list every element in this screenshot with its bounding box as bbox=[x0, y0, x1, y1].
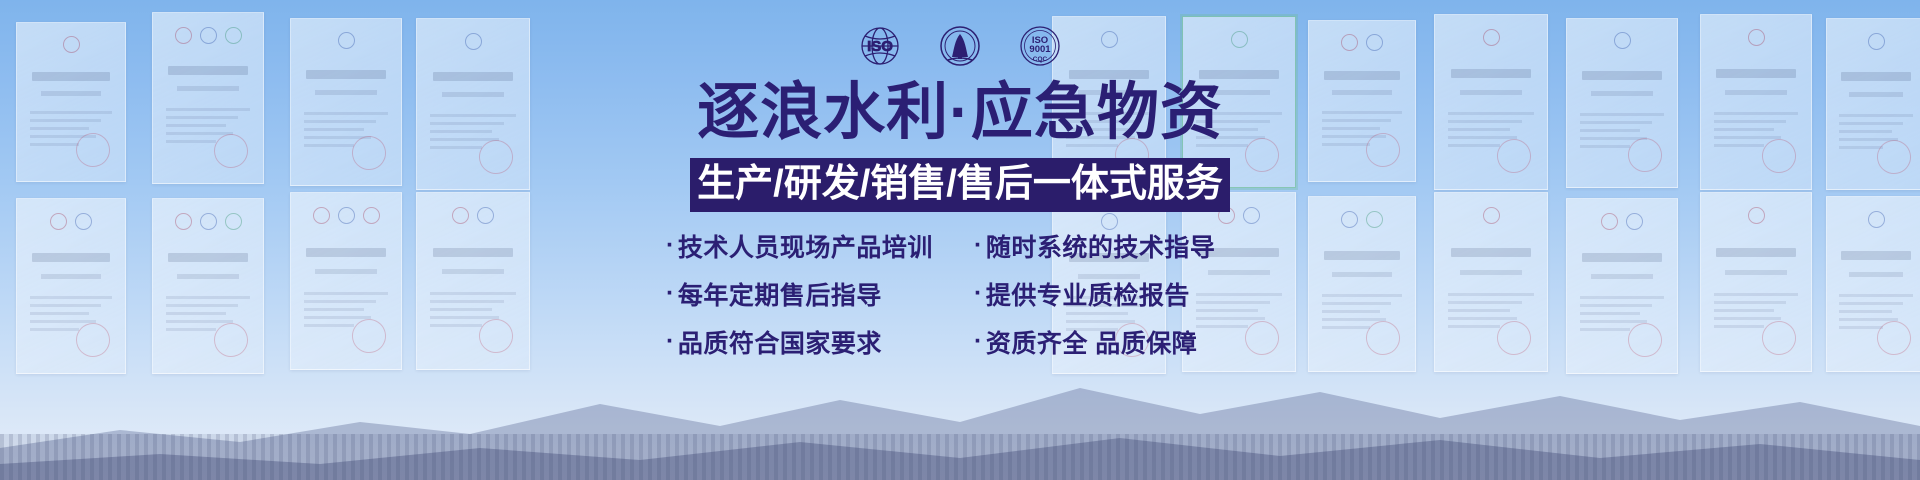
page-title: 逐浪水利·应急物资 bbox=[660, 80, 1260, 146]
banner-content: ISO ISO 9001 CQC bbox=[660, 0, 1260, 480]
promo-banner: ISO ISO 9001 CQC bbox=[0, 0, 1920, 480]
svg-text:ISO: ISO bbox=[867, 38, 893, 55]
certificate-thumbnail bbox=[1308, 196, 1416, 372]
svg-text:CQC: CQC bbox=[1033, 56, 1048, 63]
svg-text:9001: 9001 bbox=[1029, 44, 1051, 55]
bullet-icon: · bbox=[974, 231, 983, 260]
bullet-icon: · bbox=[666, 231, 675, 260]
list-item-label: 技术人员现场产品培训 bbox=[678, 228, 933, 264]
certificate-thumbnail bbox=[1308, 20, 1416, 182]
bullet-icon: · bbox=[974, 279, 983, 308]
certificate-thumbnail bbox=[1434, 192, 1548, 372]
list-item-label: 随时系统的技术指导 bbox=[986, 228, 1216, 264]
certificate-thumbnail bbox=[1700, 192, 1812, 372]
bullet-icon: · bbox=[666, 327, 675, 356]
list-item: · 技术人员现场产品培训 bbox=[666, 228, 956, 264]
list-item-label: 每年定期售后指导 bbox=[678, 276, 882, 312]
certificate-thumbnail bbox=[1700, 14, 1812, 190]
certificate-thumbnail bbox=[1434, 14, 1548, 190]
bullet-icon: · bbox=[666, 279, 675, 308]
certificate-thumbnail bbox=[1566, 18, 1678, 188]
list-item-label: 提供专业质检报告 bbox=[986, 276, 1190, 312]
list-item: · 每年定期售后指导 bbox=[666, 276, 956, 312]
certificate-thumbnail bbox=[290, 18, 402, 186]
list-item: · 品质符合国家要求 bbox=[666, 324, 956, 360]
certificate-thumbnail bbox=[16, 198, 126, 374]
bullet-icon: · bbox=[974, 327, 983, 356]
certificate-thumbnail bbox=[416, 18, 530, 190]
certificate-thumbnail bbox=[1566, 198, 1678, 374]
list-item-label: 品质符合国家要求 bbox=[678, 324, 882, 360]
certificate-thumbnail bbox=[1826, 18, 1920, 190]
list-item: · 资质齐全 品质保障 bbox=[964, 324, 1254, 360]
certificate-thumbnail bbox=[290, 192, 402, 370]
iso-badge: ISO bbox=[855, 21, 905, 71]
certification-badges: ISO ISO 9001 CQC bbox=[660, 0, 1260, 66]
feature-list: · 技术人员现场产品培训 · 随时系统的技术指导 · 每年定期售后指导 · 提供… bbox=[660, 228, 1260, 360]
iso-9001-cqc-badge: ISO 9001 CQC bbox=[1015, 21, 1065, 71]
list-item-label: 资质齐全 品质保障 bbox=[986, 324, 1197, 360]
certificate-thumbnail bbox=[152, 12, 264, 184]
iso-14000-badge bbox=[935, 21, 985, 71]
certificate-thumbnail bbox=[16, 22, 126, 182]
certificate-thumbnail bbox=[1826, 196, 1920, 372]
list-item: · 提供专业质检报告 bbox=[964, 276, 1254, 312]
certificate-thumbnail bbox=[152, 198, 264, 374]
certificate-thumbnail bbox=[416, 192, 530, 370]
list-item: · 随时系统的技术指导 bbox=[964, 228, 1254, 264]
service-subtitle-bar: 生产/研发/销售/售后一体式服务 bbox=[690, 158, 1230, 212]
